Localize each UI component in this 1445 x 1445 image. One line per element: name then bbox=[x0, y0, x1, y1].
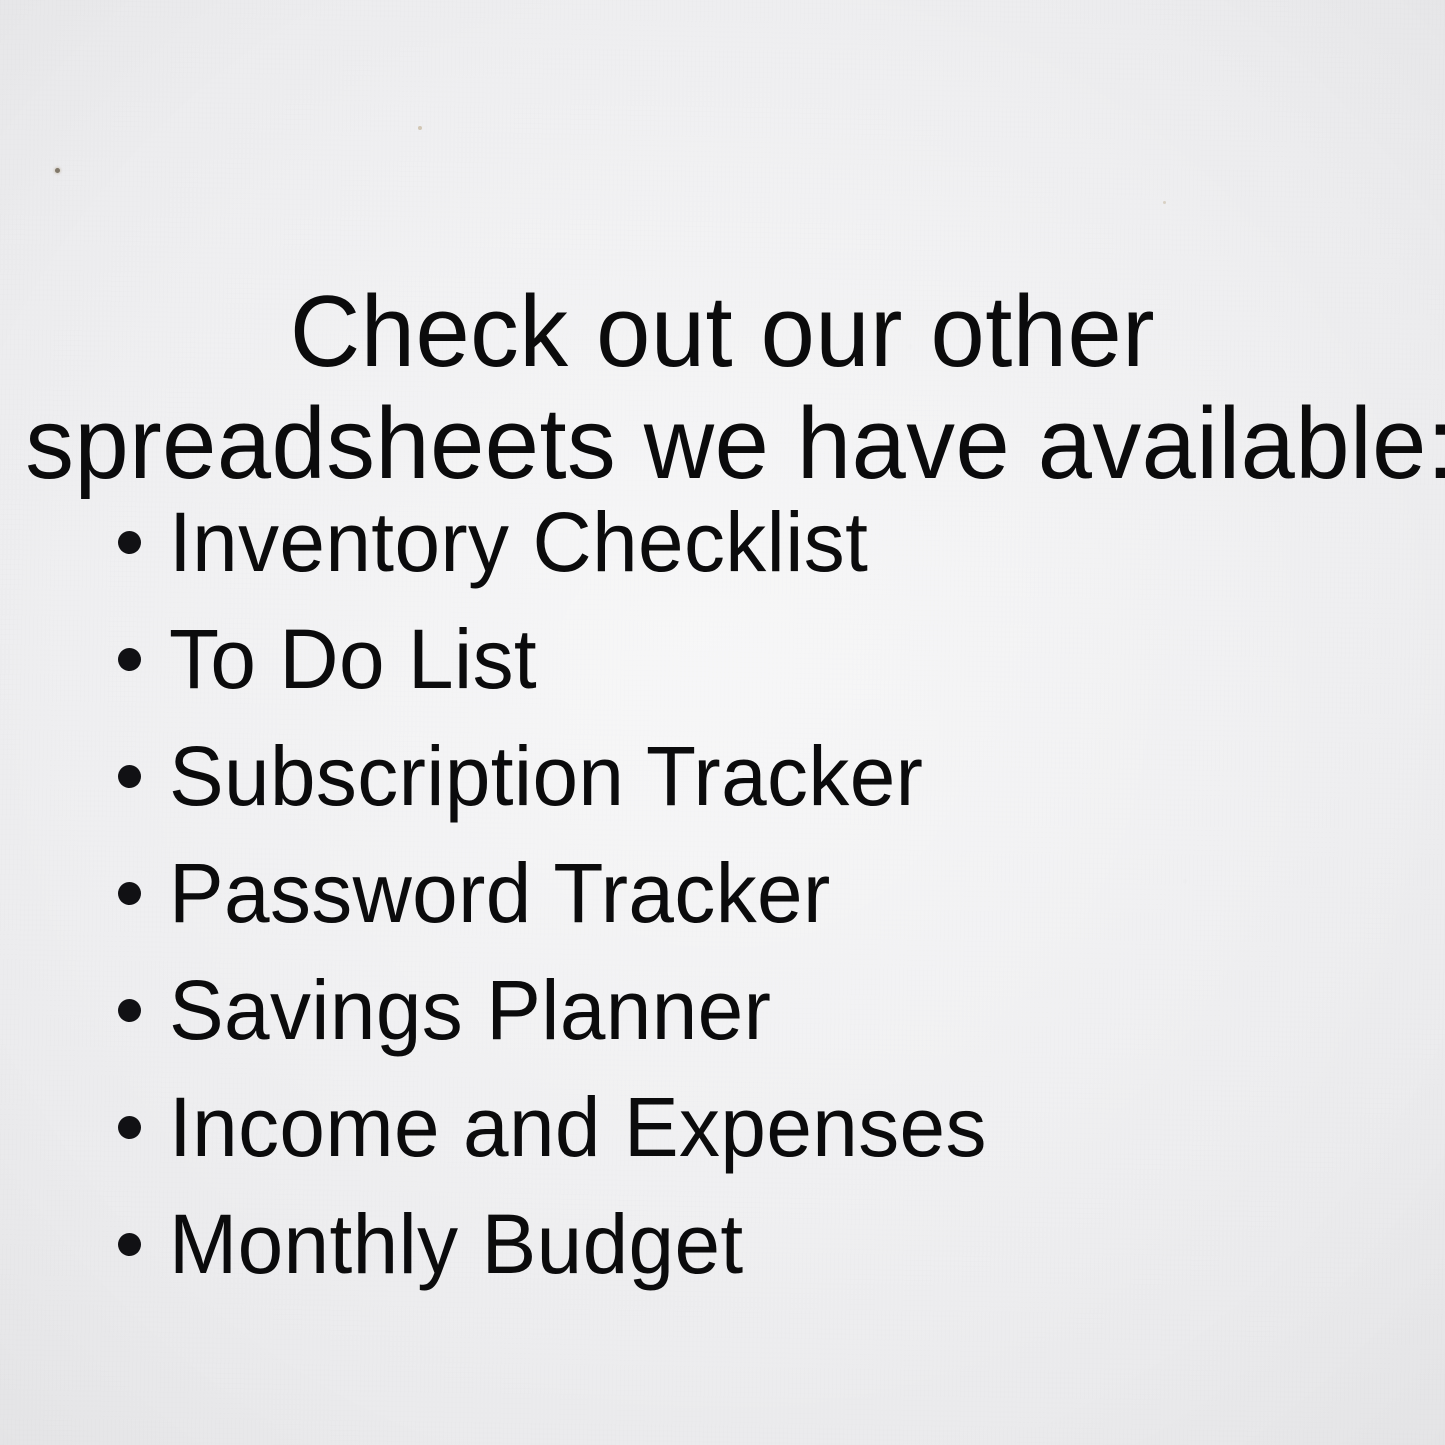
list-item: Income and Expenses bbox=[118, 1068, 1008, 1185]
list-item-label: Subscription Tracker bbox=[169, 733, 923, 819]
bullet-icon bbox=[118, 1116, 141, 1139]
list-item-label: Inventory Checklist bbox=[169, 499, 868, 585]
bullet-icon bbox=[118, 1233, 141, 1256]
headline-line-1: Check out our other bbox=[25, 276, 1419, 388]
promo-canvas: Check out our other spreadsheets we have… bbox=[0, 0, 1445, 1445]
list-item-label: Password Tracker bbox=[169, 850, 831, 936]
bullet-icon bbox=[118, 648, 141, 671]
list-item: Savings Planner bbox=[118, 951, 1008, 1068]
spreadsheet-list: Inventory Checklist To Do List Subscript… bbox=[118, 483, 1008, 1302]
bullet-icon bbox=[118, 765, 141, 788]
list-item: Monthly Budget bbox=[118, 1185, 1008, 1302]
list-item-label: To Do List bbox=[169, 616, 537, 702]
list-item-label: Monthly Budget bbox=[169, 1201, 744, 1287]
list-item: To Do List bbox=[118, 600, 1008, 717]
list-item: Password Tracker bbox=[118, 834, 1008, 951]
list-item: Inventory Checklist bbox=[118, 483, 1008, 600]
bullet-icon bbox=[118, 882, 141, 905]
promo-content: Check out our other spreadsheets we have… bbox=[0, 0, 1445, 1445]
bullet-icon bbox=[118, 531, 141, 554]
list-item: Subscription Tracker bbox=[118, 717, 1008, 834]
list-item-label: Income and Expenses bbox=[169, 1084, 987, 1170]
list-item-label: Savings Planner bbox=[169, 967, 771, 1053]
bullet-icon bbox=[118, 999, 141, 1022]
headline: Check out our other spreadsheets we have… bbox=[25, 276, 1419, 500]
